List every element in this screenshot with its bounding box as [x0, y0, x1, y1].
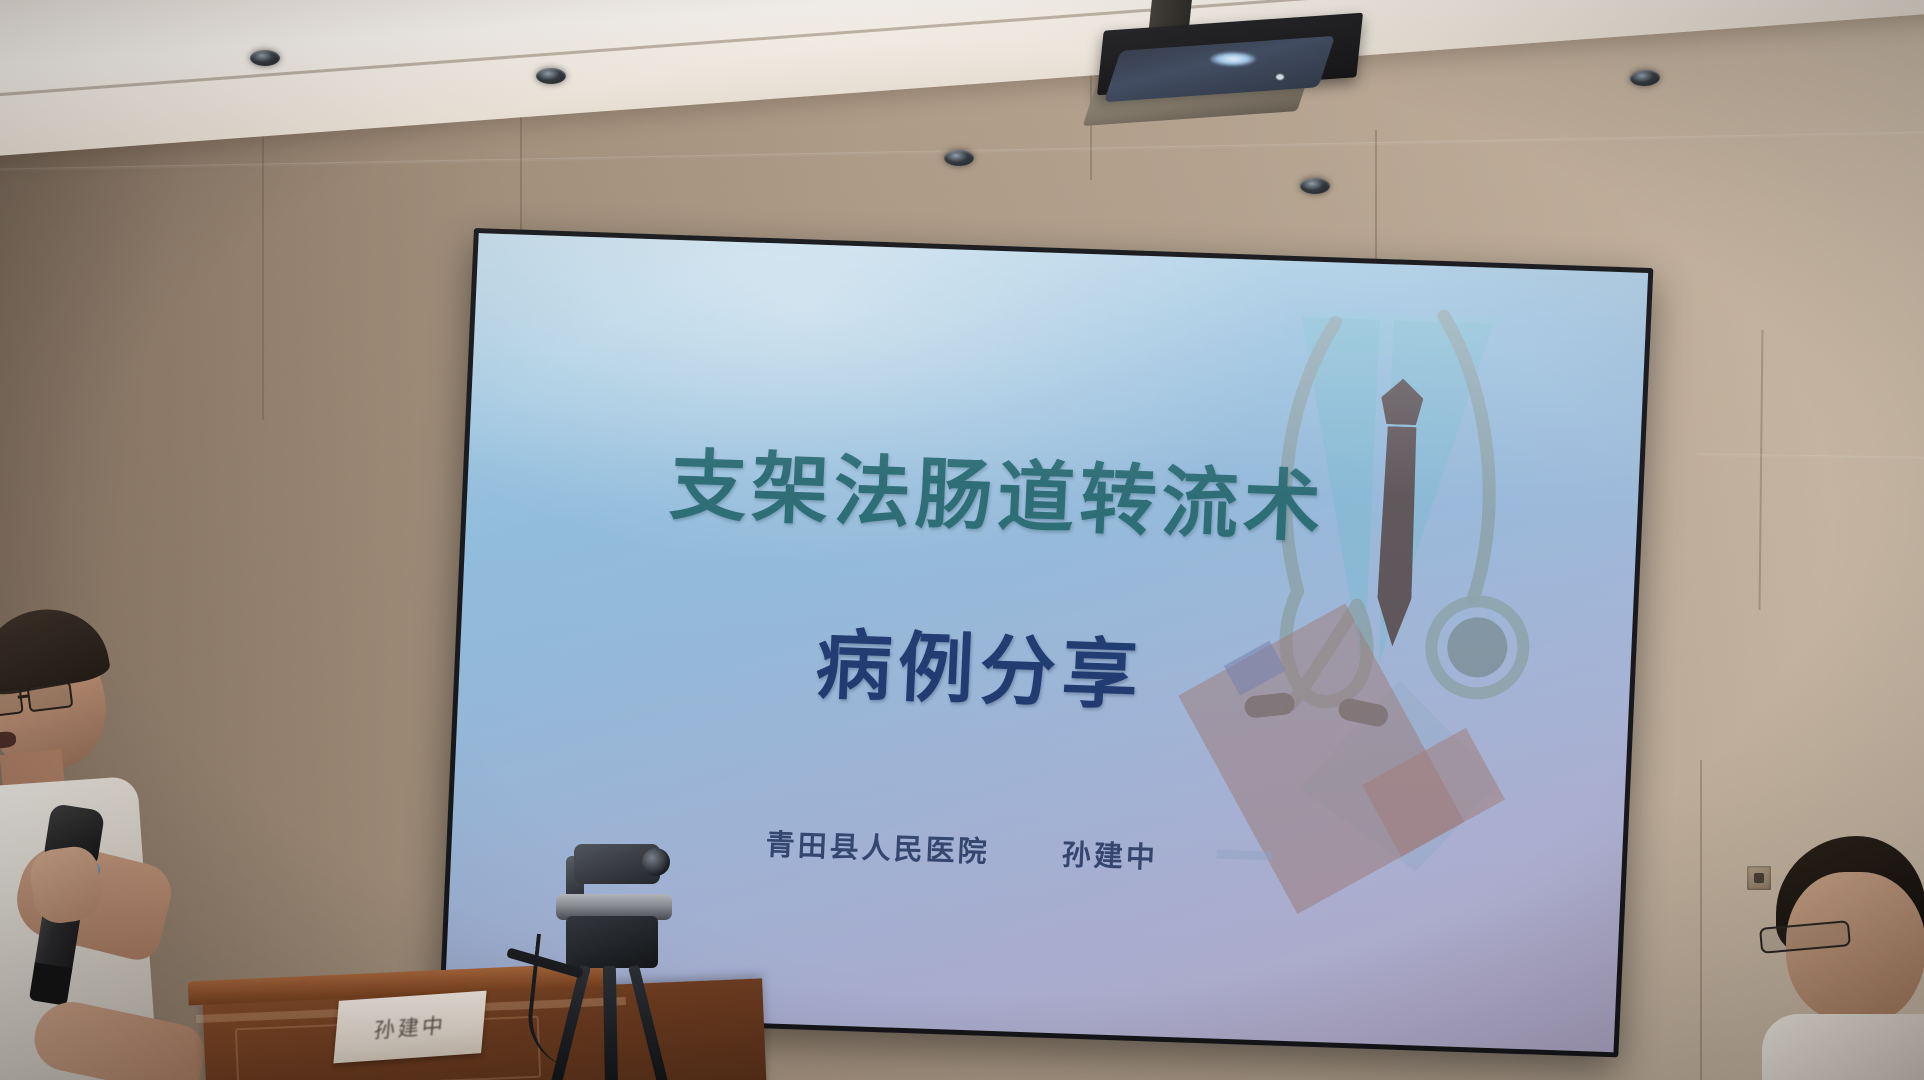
podium-nameplate: 孙建中	[333, 991, 486, 1064]
recessed-downlight-icon	[250, 50, 280, 66]
recessed-downlight-icon	[1300, 178, 1330, 194]
camera-lens-icon	[642, 848, 670, 876]
byline-institution: 青田县人民医院	[765, 827, 990, 869]
byline-presenter: 孙建中	[1061, 837, 1158, 874]
seated-attendee	[1714, 828, 1924, 1080]
photo-scene: 支架法肠道转流术 病例分享 青田县人民医院 孙建中	[0, 0, 1924, 1080]
attendee-shoulder	[1762, 1014, 1924, 1080]
recessed-downlight-icon	[536, 68, 566, 84]
eyeglass-lens-right	[27, 681, 74, 712]
camera-tripod-rig	[520, 840, 740, 1080]
wall-panel-seam	[1375, 130, 1377, 280]
projector-lamp-glow-icon	[1210, 52, 1256, 66]
byline-spacer	[1002, 862, 1048, 864]
projector-indicator-icon	[1276, 74, 1284, 80]
tripod-leg	[628, 965, 669, 1080]
recessed-downlight-icon	[944, 150, 974, 166]
nameplate-text: 孙建中	[373, 1009, 447, 1044]
microphone-tail	[29, 962, 72, 1005]
ceiling-projector	[1090, 0, 1370, 124]
tripod-leg	[603, 966, 618, 1080]
wall-panel-seam	[1700, 760, 1702, 1080]
